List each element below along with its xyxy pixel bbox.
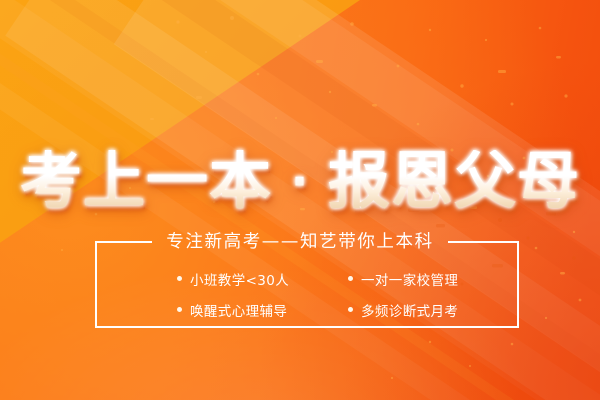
bullet-dot-icon [348, 307, 353, 312]
subtitle-text: 专注新高考——知艺带你上本科 [152, 229, 447, 255]
feature-label: 唤醒式心理辅导 [190, 300, 287, 320]
list-item: 多频诊断式月考 [348, 300, 519, 320]
frame-top-border-segment [448, 241, 519, 243]
bullet-dot-icon [348, 276, 353, 281]
headline-part-2: 报恩父母 [328, 150, 580, 212]
feature-list: 小班教学<30人 一对一家校管理 唤醒式心理辅导 多频诊断式月考 [95, 263, 519, 325]
promo-banner: 考上一本 · 报恩父母 专注新高考——知艺带你上本科 小班教学<30人 一对一家… [0, 0, 600, 400]
headline: 考上一本 · 报恩父母 [20, 150, 580, 212]
list-item: 唤醒式心理辅导 [177, 300, 348, 320]
headline-separator-dot: · [272, 158, 328, 204]
list-item: 小班教学<30人 [177, 269, 348, 289]
frame-top-border-segment [95, 241, 152, 243]
feature-label: 多频诊断式月考 [361, 300, 458, 320]
bullet-dot-icon [177, 276, 182, 281]
bullet-dot-icon [177, 307, 182, 312]
list-item: 一对一家校管理 [348, 269, 519, 289]
feature-label: 小班教学<30人 [190, 269, 289, 289]
headline-part-1: 考上一本 [20, 150, 272, 212]
feature-label: 一对一家校管理 [361, 269, 458, 289]
headline-container: 考上一本 · 报恩父母 [0, 140, 600, 222]
